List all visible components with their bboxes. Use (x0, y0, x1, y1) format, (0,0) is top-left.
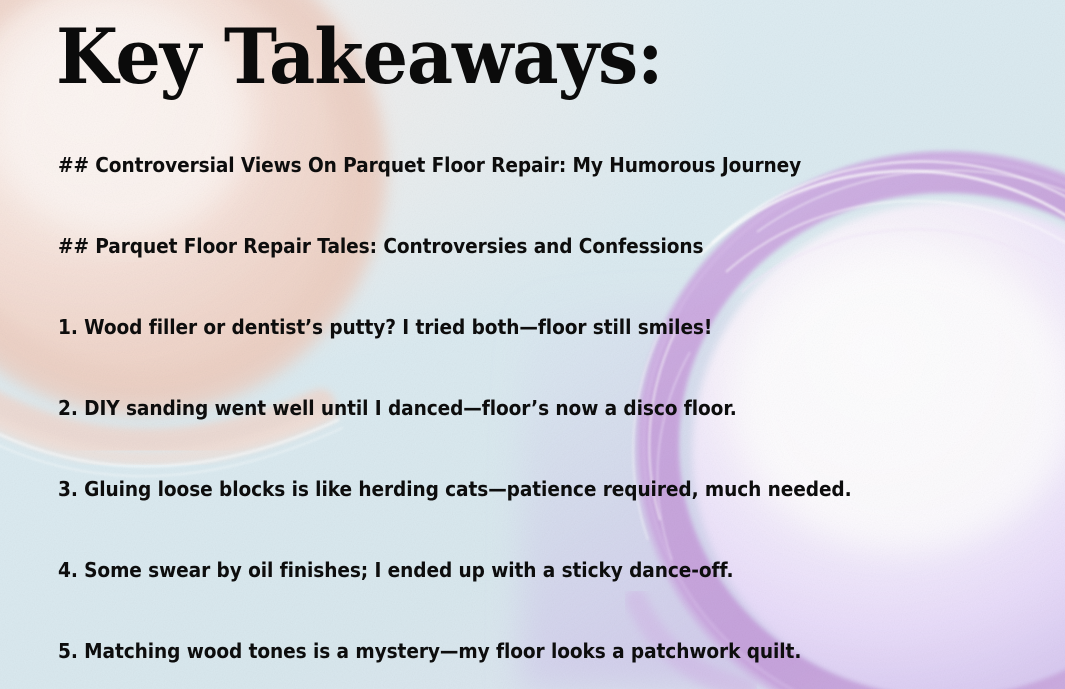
poster-content: Key Takeaways: ## Controversial Views On… (0, 0, 1065, 689)
takeaways-list: ## Controversial Views On Parquet Floor … (58, 152, 1018, 664)
list-item-takeaway-3: 3. Gluing loose blocks is like herding c… (58, 476, 927, 557)
poster-canvas: Key Takeaways: ## Controversial Views On… (0, 0, 1065, 689)
list-item-heading-1: ## Controversial Views On Parquet Floor … (58, 152, 927, 233)
list-item-takeaway-4: 4. Some swear by oil finishes; I ended u… (58, 557, 927, 638)
list-item-takeaway-2: 2. DIY sanding went well until I danced—… (58, 395, 927, 476)
page-title: Key Takeaways: (56, 17, 662, 98)
list-item-heading-2: ## Parquet Floor Repair Tales: Controver… (58, 233, 927, 314)
list-item-takeaway-5: 5. Matching wood tones is a mystery—my f… (58, 638, 927, 664)
list-item-takeaway-1: 1. Wood filler or dentist’s putty? I tri… (58, 314, 927, 395)
